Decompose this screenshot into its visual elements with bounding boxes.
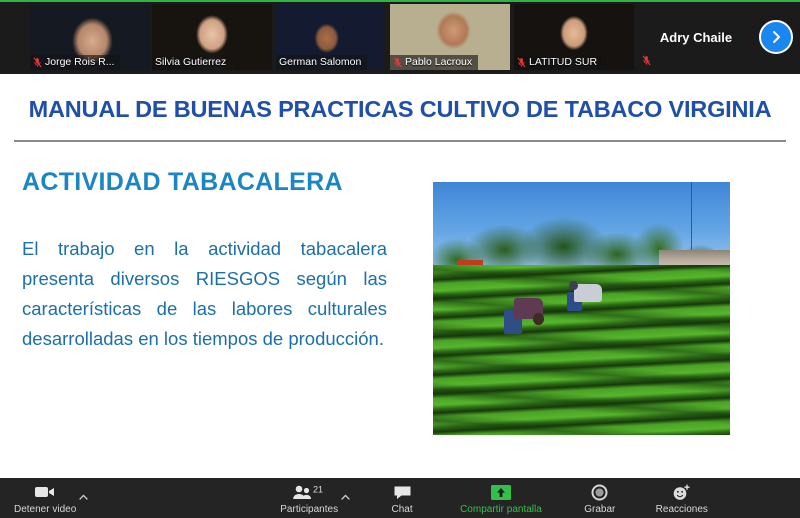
participant-name-label: Jorge Rois R... <box>30 55 120 70</box>
mute-icon <box>642 55 651 66</box>
participant-tile-latitud-sur[interactable]: LATITUD SUR <box>514 4 634 70</box>
mute-icon <box>517 57 526 68</box>
video-camera-glyph <box>34 485 56 499</box>
chat-bubble-glyph <box>393 485 412 500</box>
share-screen-button[interactable]: Compartir pantalla <box>460 478 542 515</box>
stop-video-button[interactable]: Detener video <box>14 478 76 515</box>
participant-name-text: Pablo Lacroux <box>405 56 472 69</box>
mute-icon-wrapper <box>642 55 651 66</box>
chevron-up-glyph <box>341 494 350 500</box>
participant-name-label: German Salomon <box>276 55 367 70</box>
video-camera-icon <box>34 483 56 501</box>
participants-label: Participantes <box>280 504 338 515</box>
reactions-glyph <box>672 484 691 501</box>
shared-screen-slide: MANUAL DE BUENAS PRACTICAS CULTIVO DE TA… <box>0 74 800 478</box>
screen-share-border <box>0 0 800 2</box>
participants-icon: 21 <box>292 483 326 501</box>
meeting-toolbar: Detener video 21 Participantes <box>0 478 800 518</box>
chat-label: Chat <box>392 504 413 515</box>
participant-name-text: Silvia Gutierrez <box>155 56 226 69</box>
participants-count: 21 <box>313 485 323 495</box>
chevron-up-icon[interactable] <box>341 487 350 505</box>
stop-video-label: Detener video <box>14 504 76 515</box>
chevron-up-icon[interactable] <box>79 487 88 505</box>
mute-icon <box>393 57 402 68</box>
participant-filmstrip: Jorge Rois R... Silvia Gutierrez German … <box>0 0 800 74</box>
photo-worker-left <box>504 298 543 333</box>
record-label: Grabar <box>584 504 615 515</box>
title-divider <box>14 140 786 142</box>
reactions-button[interactable]: Reacciones <box>654 478 710 515</box>
chevron-right-icon[interactable] <box>759 20 793 54</box>
photo-worker-right <box>567 281 603 311</box>
participant-name-text: German Salomon <box>279 56 361 69</box>
participant-name-label: Silvia Gutierrez <box>152 55 232 70</box>
share-screen-icon <box>487 483 515 501</box>
slide-title: MANUAL DE BUENAS PRACTICAS CULTIVO DE TA… <box>0 96 800 123</box>
chat-button[interactable]: Chat <box>374 478 430 515</box>
participants-button[interactable]: 21 Participantes <box>280 478 338 515</box>
tobacco-field-photo <box>433 182 730 435</box>
participant-tile-german[interactable]: German Salomon <box>276 4 384 70</box>
slide-body-text: El trabajo en la actividad tabacalera pr… <box>22 234 387 354</box>
participant-name-text: Adry Chaile <box>660 30 732 45</box>
mute-icon <box>33 57 42 68</box>
share-screen-label: Compartir pantalla <box>460 504 542 515</box>
participant-tile-pablo[interactable]: Pablo Lacroux <box>390 4 510 70</box>
reactions-icon <box>672 483 691 501</box>
slide-section-heading: ACTIVIDAD TABACALERA <box>22 168 343 197</box>
share-screen-glyph <box>487 484 515 501</box>
participant-tile-adry-chaile[interactable]: Adry Chaile <box>636 4 756 70</box>
participant-tile-jorge[interactable]: Jorge Rois R... <box>30 4 150 70</box>
participant-name-label: Pablo Lacroux <box>390 55 478 70</box>
record-icon <box>591 483 608 501</box>
chat-bubble-icon <box>393 483 412 501</box>
participant-name-text: Jorge Rois R... <box>45 56 114 69</box>
reactions-label: Reacciones <box>656 504 708 515</box>
participant-name-text: LATITUD SUR <box>529 56 597 69</box>
participant-tile-silvia[interactable]: Silvia Gutierrez <box>152 4 272 70</box>
record-button[interactable]: Grabar <box>572 478 628 515</box>
participant-name-label: LATITUD SUR <box>514 55 603 70</box>
chevron-right-glyph <box>769 30 783 44</box>
chevron-up-glyph <box>79 494 88 500</box>
zoom-meeting-window: Jorge Rois R... Silvia Gutierrez German … <box>0 0 800 518</box>
record-glyph <box>591 484 608 501</box>
participants-glyph: 21 <box>292 485 326 500</box>
